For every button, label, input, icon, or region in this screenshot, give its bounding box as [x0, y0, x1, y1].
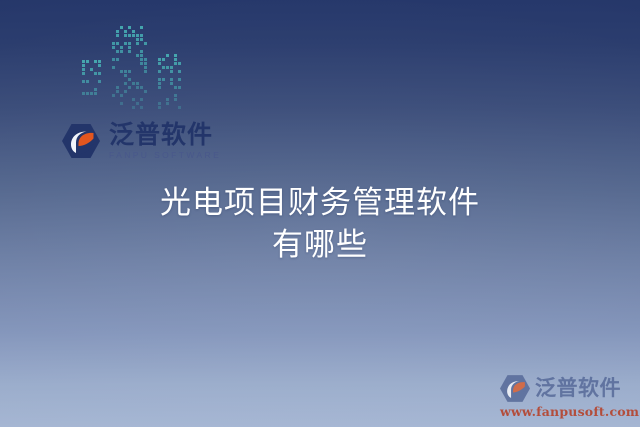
- pixel-cell: [128, 86, 131, 89]
- pixel-cell: [128, 70, 131, 73]
- pixel-cell: [170, 66, 173, 69]
- pixel-cell: [124, 90, 127, 93]
- pixel-cell: [178, 70, 181, 73]
- pixel-cell: [116, 30, 119, 33]
- pixel-cell: [136, 54, 139, 57]
- pixel-cell: [174, 94, 177, 97]
- pixel-cell: [174, 62, 177, 65]
- pixel-cell: [132, 30, 135, 33]
- pixel-cell: [136, 86, 139, 89]
- pixel-cell: [140, 62, 143, 65]
- pixel-cell: [140, 50, 143, 53]
- pixel-cell: [136, 102, 139, 105]
- pixel-cell: [94, 88, 97, 91]
- pixel-cell: [116, 42, 119, 45]
- pixel-cell: [178, 106, 181, 109]
- pixel-cell: [140, 54, 143, 57]
- pixel-cell: [166, 98, 169, 101]
- pixel-cell: [174, 98, 177, 101]
- pixel-cell: [98, 80, 101, 83]
- pixel-cell: [170, 70, 173, 73]
- pixel-cell: [158, 86, 161, 89]
- pixel-cell: [158, 62, 161, 65]
- brand-name-en: FANPU SOFTWARE: [109, 151, 221, 160]
- pixel-cell: [90, 92, 93, 95]
- page-title: 光电项目财务管理软件 有哪些: [0, 182, 640, 266]
- pixel-cell: [86, 92, 89, 95]
- pixel-cell: [124, 42, 127, 45]
- pixel-cell: [112, 42, 115, 45]
- pixel-cell: [116, 34, 119, 37]
- pixel-cell: [94, 92, 97, 95]
- pixel-cell: [136, 34, 139, 37]
- pixel-cell: [82, 80, 85, 83]
- pixel-cell: [158, 70, 161, 73]
- page-title-line-1: 光电项目财务管理软件: [0, 182, 640, 224]
- fanpu-hexagon-logo-icon: [62, 124, 100, 158]
- pixel-cell: [166, 102, 169, 105]
- pixel-tower: [112, 26, 150, 112]
- pixel-cell: [116, 50, 119, 53]
- pixel-cell: [128, 78, 131, 81]
- pixel-cell: [82, 60, 85, 63]
- pixel-cell: [166, 66, 169, 69]
- pixel-cell: [174, 54, 177, 57]
- brand-name-cn: 泛普软件: [109, 122, 221, 148]
- pixel-cell: [124, 34, 127, 37]
- pixel-cell: [116, 90, 119, 93]
- pixel-cell: [144, 70, 147, 73]
- footer-watermark: 泛普软件 www.fanpusoft.com: [500, 375, 632, 419]
- pixel-cell: [98, 64, 101, 67]
- pixel-cell: [124, 30, 127, 33]
- page-title-line-2: 有哪些: [0, 224, 640, 266]
- watermark-brand-name: 泛普软件: [535, 378, 621, 399]
- pixel-cell: [174, 86, 177, 89]
- pixel-cell: [162, 78, 165, 81]
- pixel-cell: [140, 26, 143, 29]
- pixel-cell: [112, 58, 115, 61]
- pixel-cell: [120, 70, 123, 73]
- pixel-cell: [158, 78, 161, 81]
- pixel-skyline-decoration: [82, 26, 182, 112]
- pixel-cell: [144, 66, 147, 69]
- pixel-cell: [98, 72, 101, 75]
- pixel-cell: [94, 60, 97, 63]
- pixel-cell: [166, 54, 169, 57]
- pixel-cell: [158, 102, 161, 105]
- pixel-cell: [144, 42, 147, 45]
- brand-logo-lockup: 泛普软件 FANPU SOFTWARE: [62, 122, 221, 160]
- pixel-cell: [178, 62, 181, 65]
- fanpu-hexagon-logo-icon: [500, 375, 530, 402]
- pixel-cell: [120, 26, 123, 29]
- pixel-cell: [140, 98, 143, 101]
- pixel-cell: [128, 42, 131, 45]
- pixel-cell: [136, 82, 139, 85]
- pixel-cell: [162, 66, 165, 69]
- pixel-cell: [90, 68, 93, 71]
- pixel-cell: [132, 106, 135, 109]
- pixel-cell: [170, 82, 173, 85]
- pixel-cell: [144, 58, 147, 61]
- pixel-cell: [124, 82, 127, 85]
- pixel-cell: [144, 62, 147, 65]
- pixel-cell: [128, 50, 131, 53]
- watermark-lockup: 泛普软件: [500, 375, 632, 402]
- pixel-cell: [136, 42, 139, 45]
- pixel-cell: [178, 78, 181, 81]
- pixel-cell: [124, 74, 127, 77]
- pixel-cell: [82, 72, 85, 75]
- pixel-cell: [82, 92, 85, 95]
- pixel-cell: [132, 82, 135, 85]
- pixel-cell: [112, 94, 115, 97]
- pixel-cell: [82, 68, 85, 71]
- pixel-cell: [140, 58, 143, 61]
- pixel-cell: [144, 90, 147, 93]
- pixel-cell: [174, 58, 177, 61]
- pixel-cell: [82, 64, 85, 67]
- brand-wordmark: 泛普软件 FANPU SOFTWARE: [109, 122, 221, 160]
- pixel-cell: [128, 26, 131, 29]
- pixel-cell: [170, 78, 173, 81]
- pixel-cell: [140, 106, 143, 109]
- pixel-cell: [120, 102, 123, 105]
- pixel-cell: [120, 94, 123, 97]
- slide-canvas: 泛普软件 FANPU SOFTWARE 光电项目财务管理软件 有哪些 泛普软件 …: [0, 0, 640, 427]
- pixel-cell: [116, 86, 119, 89]
- pixel-cell: [136, 38, 139, 41]
- pixel-cell: [128, 46, 131, 49]
- pixel-cell: [128, 34, 131, 37]
- pixel-cell: [120, 46, 123, 49]
- pixel-cell: [124, 70, 127, 73]
- pixel-cell: [116, 58, 119, 61]
- pixel-cell: [98, 60, 101, 63]
- pixel-cell: [140, 34, 143, 37]
- pixel-cell: [158, 82, 161, 85]
- pixel-cell: [178, 86, 181, 89]
- pixel-cell: [132, 34, 135, 37]
- pixel-cell: [86, 60, 89, 63]
- pixel-cell: [140, 38, 143, 41]
- pixel-cell: [112, 66, 115, 69]
- pixel-cell: [132, 98, 135, 101]
- pixel-tower: [158, 54, 182, 112]
- pixel-cell: [112, 46, 115, 49]
- pixel-cell: [94, 72, 97, 75]
- watermark-url: www.fanpusoft.com: [500, 404, 632, 419]
- pixel-cell: [120, 50, 123, 53]
- pixel-cell: [86, 80, 89, 83]
- pixel-cell: [158, 58, 161, 61]
- pixel-cell: [162, 58, 165, 61]
- pixel-cell: [158, 106, 161, 109]
- pixel-cell: [140, 86, 143, 89]
- pixel-tower: [82, 60, 104, 112]
